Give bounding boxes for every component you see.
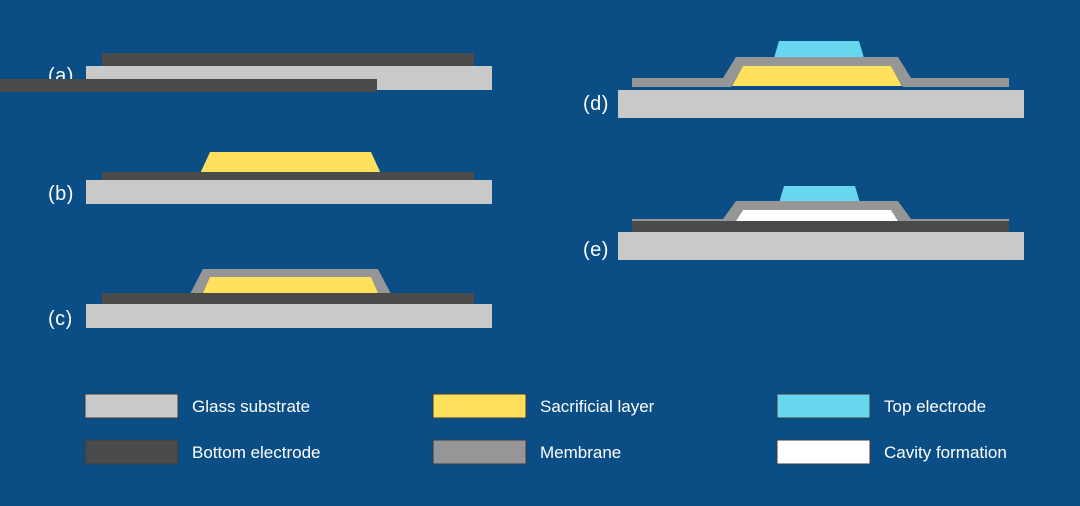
- legend-swatch-top-electrode: [777, 394, 870, 418]
- process-flow-figure: (a) (b) (c) (d) (e): [0, 0, 1080, 506]
- legend-swatch-glass-substrate: [85, 394, 178, 418]
- step-d-bottom-electrode: [0, 79, 377, 92]
- legend-label-cavity-formation: Cavity formation: [884, 443, 1007, 462]
- step-e-glass-substrate: [618, 232, 1024, 260]
- step-a-bottom-electrode: [102, 53, 474, 66]
- legend-swatch-membrane: [433, 440, 526, 464]
- step-b-glass-substrate: [86, 180, 492, 204]
- step-e-top-electrode: [779, 186, 860, 203]
- step-d-sacrificial-layer: [732, 66, 902, 86]
- legend-label-glass-substrate: Glass substrate: [192, 397, 310, 416]
- step-d-top-electrode: [774, 41, 864, 58]
- legend-item-bottom-electrode: Bottom electrode: [85, 440, 321, 464]
- legend-swatch-sacrificial-layer: [433, 394, 526, 418]
- legend-label-sacrificial-layer: Sacrificial layer: [540, 397, 655, 416]
- legend-item-sacrificial-layer: Sacrificial layer: [433, 394, 655, 418]
- step-c-label: (c): [48, 308, 73, 330]
- step-e-label: (e): [583, 239, 609, 261]
- step-d-label: (d): [583, 93, 609, 115]
- step-b-label: (b): [48, 183, 74, 205]
- legend-label-bottom-electrode: Bottom electrode: [192, 443, 321, 462]
- step-c-glass-substrate: [86, 304, 492, 328]
- legend-swatch-bottom-electrode: [85, 440, 178, 464]
- legend-item-glass-substrate: Glass substrate: [85, 394, 310, 418]
- legend-item-cavity-formation: Cavity formation: [777, 440, 1007, 464]
- legend-label-membrane: Membrane: [540, 443, 621, 462]
- legend-label-top-electrode: Top electrode: [884, 397, 986, 416]
- legend-swatch-cavity-formation: [777, 440, 870, 464]
- step-d-glass-substrate: [618, 90, 1024, 118]
